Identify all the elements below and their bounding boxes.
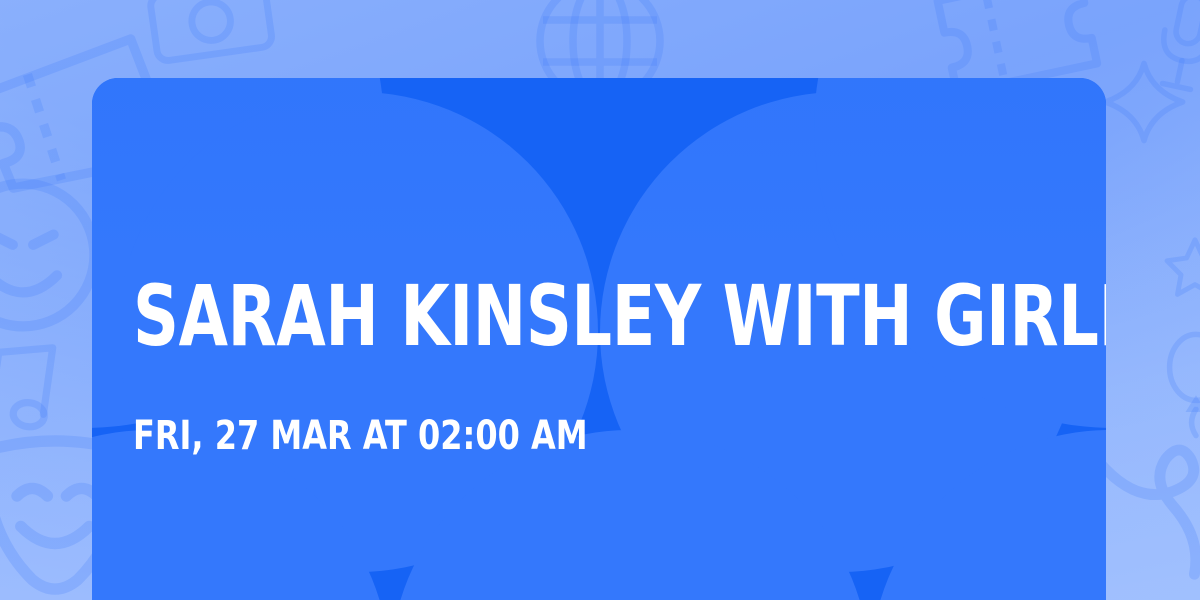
event-title: Sarah Kinsley with girlpuppy — [133, 274, 842, 358]
event-card: Sarah Kinsley with girlpuppy Fri, 27 Mar… — [92, 78, 1106, 600]
event-card-content: Sarah Kinsley with girlpuppy Fri, 27 Mar… — [133, 78, 1066, 600]
event-banner: Sarah Kinsley with girlpuppy Fri, 27 Mar… — [0, 0, 1200, 600]
event-date: Fri, 27 Mar at 02:00 AM — [133, 416, 588, 456]
